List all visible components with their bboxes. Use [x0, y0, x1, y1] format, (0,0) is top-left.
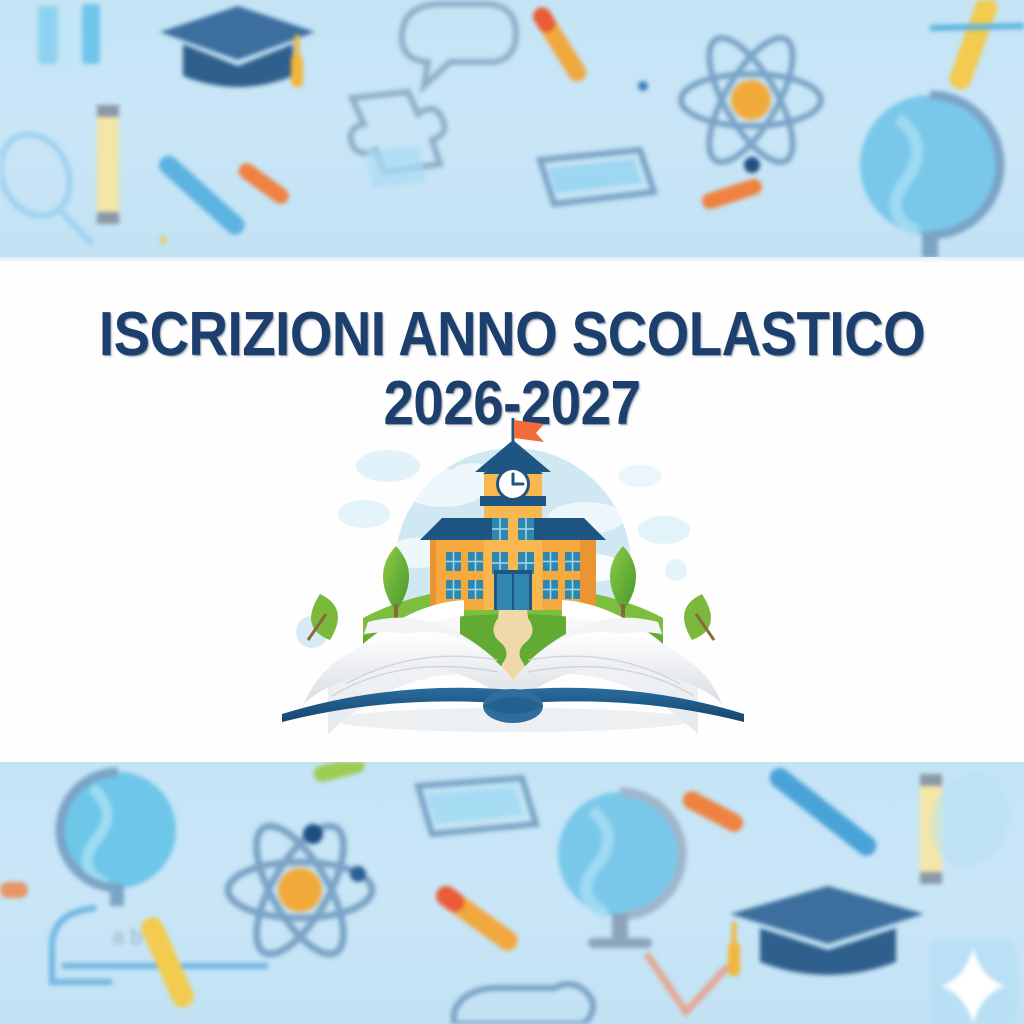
clock-face — [496, 467, 530, 501]
background-icons-bottom: a b c — [0, 762, 1024, 1024]
magnifier-icon — [0, 123, 92, 244]
crayon-icon — [312, 762, 366, 784]
globe-icon — [60, 772, 176, 906]
cloud — [356, 450, 420, 482]
dot-icon — [159, 236, 167, 244]
graduation-cap-icon — [728, 886, 924, 976]
notebook-line-icon — [930, 26, 1024, 28]
ruler-blue-icon — [766, 764, 881, 860]
books-icon — [38, 4, 100, 64]
globe-icon — [558, 792, 682, 948]
graduation-cap-icon — [160, 6, 315, 87]
atom-icon — [228, 814, 372, 967]
bokeh-dot — [665, 559, 687, 581]
globe-icon — [860, 95, 1000, 258]
notebook-icon — [540, 150, 654, 204]
background-pattern-top — [0, 0, 1024, 258]
page-title: ISCRIZIONI ANNO SCOLASTICO 2026-2027 — [0, 303, 1024, 435]
ruler-orange-icon — [236, 160, 292, 207]
sparkle-icon — [930, 940, 1016, 1024]
door — [494, 570, 532, 610]
pencil-icon — [700, 177, 764, 211]
ruler-orange-icon — [680, 788, 747, 835]
crayon-icon — [648, 956, 726, 1012]
eraser-icon — [418, 778, 536, 834]
poster-root: ISCRIZIONI ANNO SCOLASTICO 2026-2027 — [0, 0, 1024, 1024]
background-icons-top — [0, 0, 1024, 258]
illustration-svg — [268, 418, 758, 738]
ruler-yellow-icon — [946, 0, 1000, 92]
title-line-primary: ISCRIZIONI ANNO SCOLASTICO — [61, 303, 962, 366]
cloud — [638, 516, 690, 544]
flag — [513, 418, 544, 444]
school-on-open-book-illustration — [268, 418, 758, 738]
pencil-icon — [97, 105, 119, 224]
background-pattern-bottom: a b c — [0, 762, 1024, 1024]
cloud — [618, 465, 662, 487]
speech-bubble-icon — [454, 984, 593, 1024]
tree — [308, 594, 338, 640]
ruler-blue-icon — [155, 152, 248, 238]
pencil-icon — [138, 914, 197, 1011]
atom-icon — [638, 26, 821, 173]
pencil-icon — [0, 882, 28, 898]
speech-bubble-icon — [402, 4, 516, 86]
puzzle-piece-icon — [351, 92, 445, 188]
tree — [684, 594, 714, 640]
cloud — [338, 500, 390, 528]
